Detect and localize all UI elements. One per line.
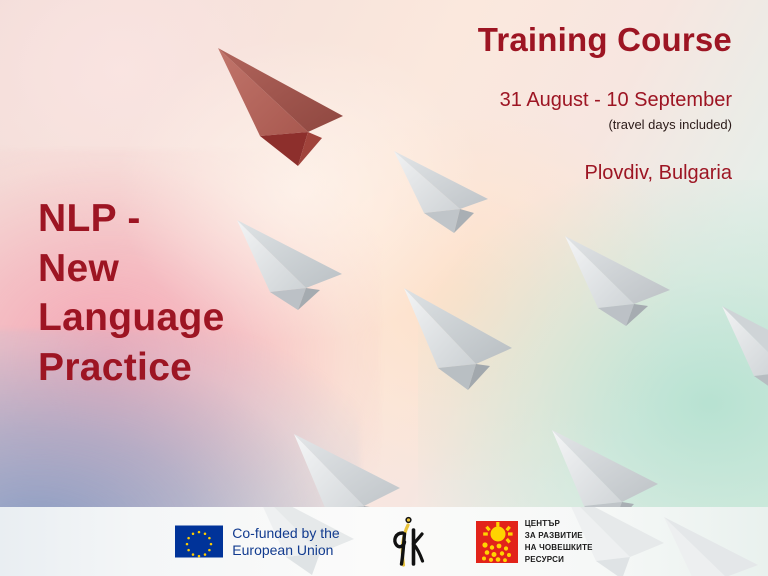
title-line-4: Practice: [38, 343, 338, 393]
title-line-1: NLP -: [38, 194, 338, 244]
hrdc-line-3: НА ЧОВЕШКИТЕ: [525, 542, 593, 554]
title-line-3: Language: [38, 293, 338, 343]
footer-logo-row: Co-funded by the European Union: [0, 507, 768, 576]
event-info-block: Training Course 31 August - 10 September…: [312, 22, 732, 185]
paper-plane-icon-5: [398, 280, 530, 392]
hrdc-logo: ЦЕНТЪР ЗА РАЗВИТИЕ НА ЧОВЕШКИТЕ РЕСУРСИ: [476, 518, 593, 566]
course-location: Plovdiv, Bulgaria: [312, 161, 732, 185]
eu-logo-line-2: European Union: [232, 542, 339, 559]
hrdc-line-2: ЗА РАЗВИТИЕ: [525, 530, 593, 542]
eu-logo-text: Co-funded by the European Union: [232, 525, 339, 558]
eu-logo-line-1: Co-funded by the: [232, 525, 339, 542]
hrdc-line-1: ЦЕНТЪР: [525, 518, 593, 530]
paper-plane-icon-6: [718, 300, 768, 396]
organisation-monogram-icon: [386, 515, 430, 569]
eu-cofunded-logo: Co-funded by the European Union: [175, 525, 339, 558]
course-dates: 31 August - 10 September: [312, 88, 732, 112]
title-line-2: New: [38, 244, 338, 294]
poster-canvas: NLP - New Language Practice Training Cou…: [0, 0, 768, 576]
eu-flag-icon: [175, 525, 223, 558]
hrdc-sun-icon: [476, 521, 518, 563]
course-type-label: Training Course: [312, 22, 732, 58]
hrdc-line-4: РЕСУРСИ: [525, 554, 593, 566]
paper-plane-icon-4: [560, 228, 688, 328]
hrdc-logo-text: ЦЕНТЪР ЗА РАЗВИТИЕ НА ЧОВЕШКИТЕ РЕСУРСИ: [525, 518, 593, 566]
footer-logo-bar: Co-funded by the European Union: [0, 507, 768, 576]
poster-main-title: NLP - New Language Practice: [38, 194, 338, 392]
course-dates-note: (travel days included): [312, 117, 732, 133]
